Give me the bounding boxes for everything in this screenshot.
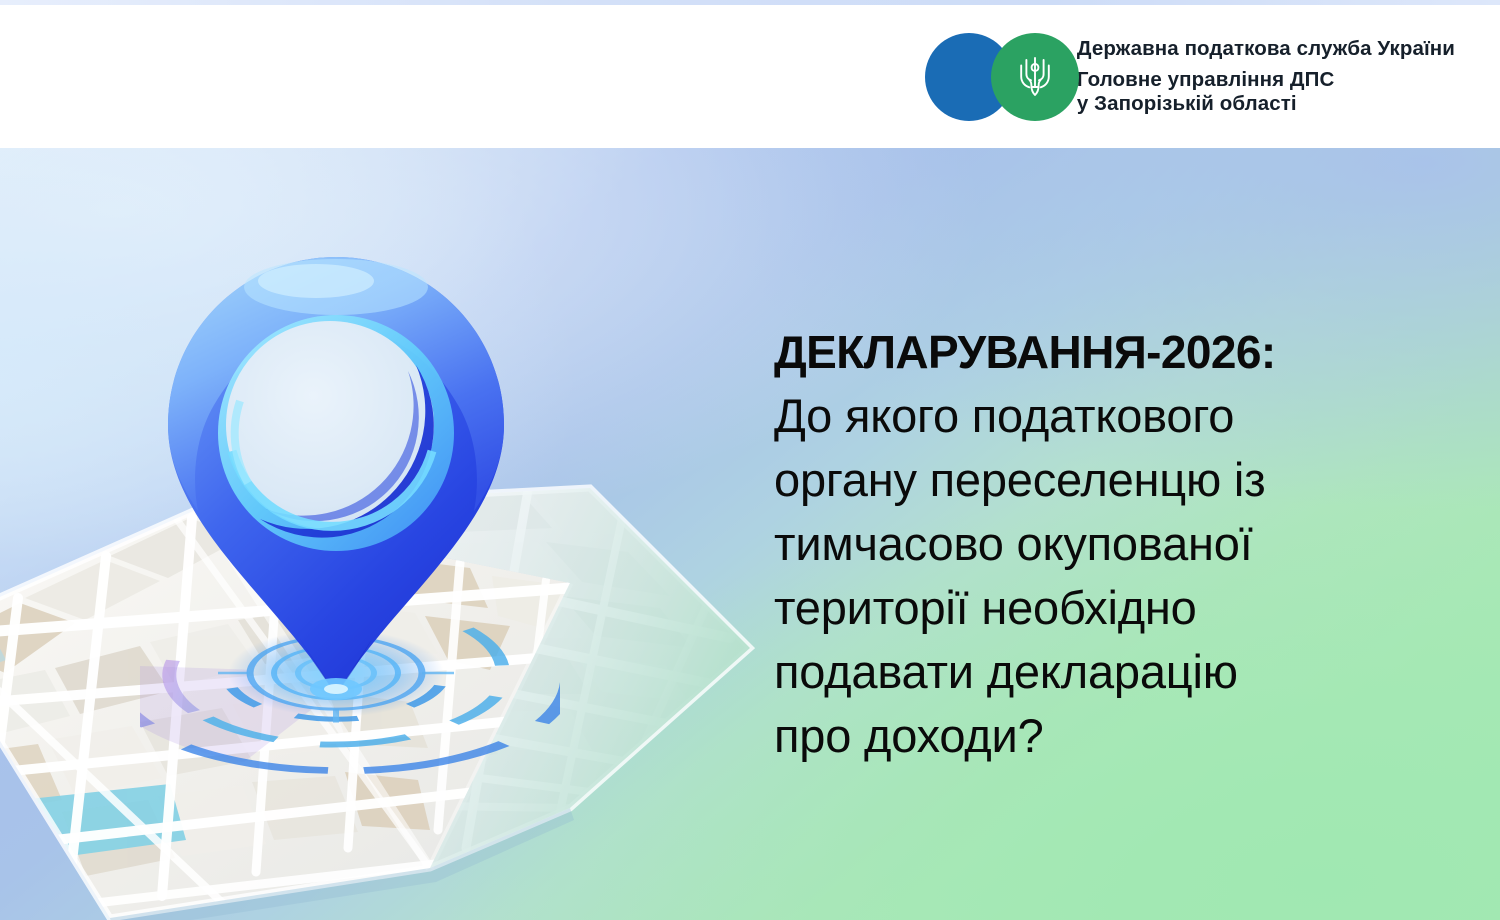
- headline-block: ДЕКЛАРУВАННЯ-2026: До якого податкового …: [774, 320, 1484, 768]
- logo-green-circle-icon: [991, 33, 1079, 121]
- headline-line-6: подавати декларацію: [774, 640, 1484, 704]
- headline-line-5: території необхідно: [774, 576, 1484, 640]
- headline-line-1: ДЕКЛАРУВАННЯ-2026:: [774, 320, 1484, 384]
- organisation-name: Державна податкова служба України Головн…: [1077, 37, 1455, 117]
- poster-body: ДЕКЛАРУВАННЯ-2026: До якого податкового …: [0, 148, 1500, 920]
- org-name-line-1: Державна податкова служба України: [1077, 37, 1455, 61]
- org-name-line-3: у Запорізькій області: [1077, 92, 1455, 116]
- headline-line-4: тимчасово окупованої: [774, 512, 1484, 576]
- page-header: Державна податкова служба України Головн…: [0, 5, 1500, 148]
- location-pin-illustration: [140, 243, 560, 803]
- ukrainian-trident-emblem-icon: [1018, 54, 1052, 100]
- folded-map-illustration: [0, 448, 770, 920]
- headline-line-2: До якого податкового: [774, 384, 1484, 448]
- headline-line-3: органу переселенцю із: [774, 448, 1484, 512]
- org-name-line-2: Головне управління ДПС: [1077, 68, 1455, 92]
- dps-logo: [921, 33, 1061, 121]
- headline-line-7: про доходи?: [774, 704, 1484, 768]
- header-content: Державна податкова служба України Головн…: [921, 33, 1455, 121]
- poster-canvas: Державна податкова служба України Головн…: [0, 0, 1500, 920]
